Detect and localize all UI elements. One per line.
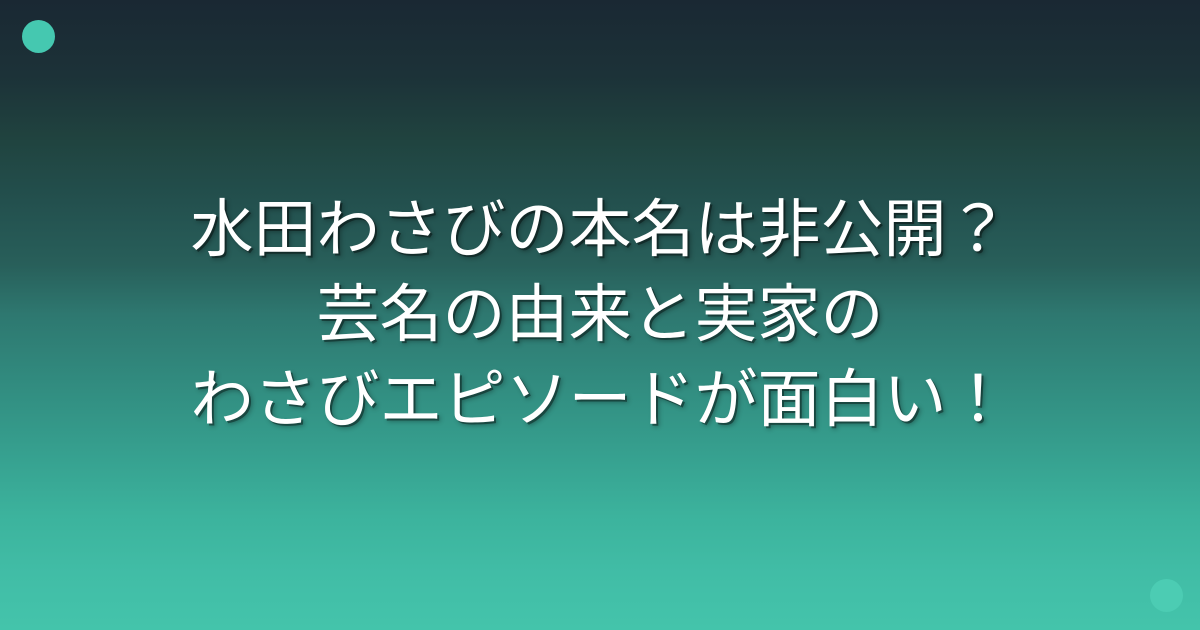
page-title-line-2: 芸名の由来と実家の — [100, 273, 1100, 358]
og-image-card: 水田わさびの本名は非公開？ 芸名の由来と実家の わさびエピソードが面白い！ — [0, 0, 1200, 630]
page-title-line-1: 水田わさびの本名は非公開？ — [100, 188, 1100, 273]
page-title: 水田わさびの本名は非公開？ 芸名の由来と実家の わさびエピソードが面白い！ — [0, 0, 1200, 630]
page-title-line-3: わさびエピソードが面白い！ — [100, 358, 1100, 443]
